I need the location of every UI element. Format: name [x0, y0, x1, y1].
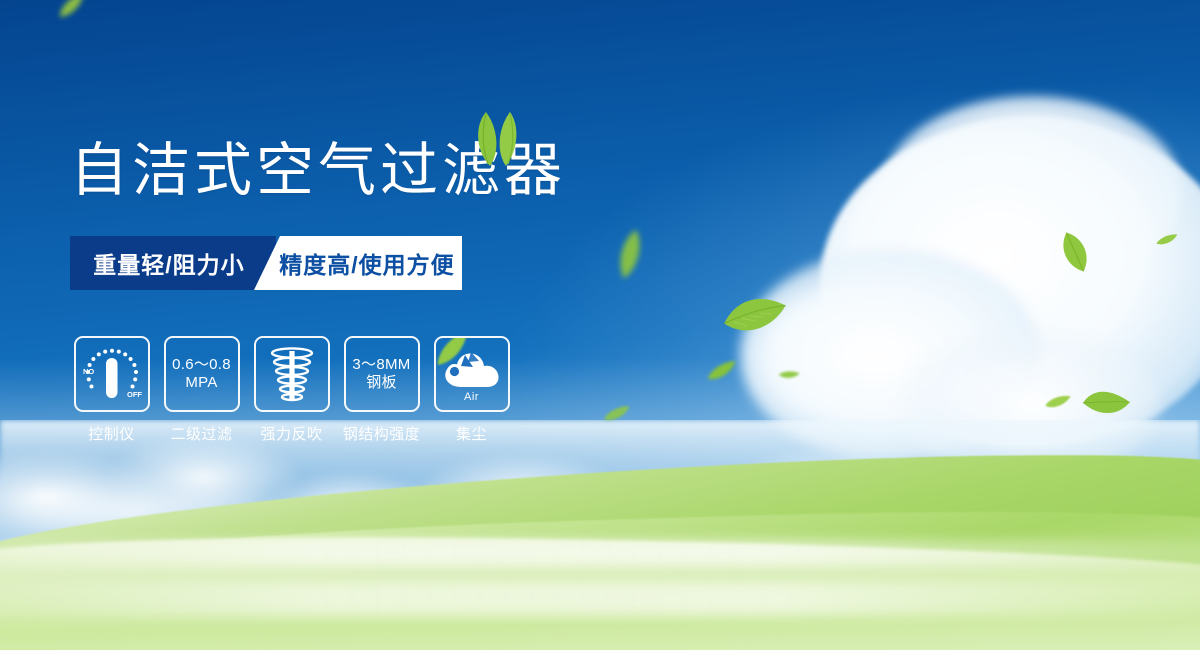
svg-text:NO: NO — [83, 367, 94, 376]
steel-thickness: 3～8MM — [352, 356, 410, 373]
feature-item-controller[interactable]: NO OFF 控制仪 — [70, 336, 153, 444]
grass-streak-lower — [0, 582, 1200, 616]
feature-label-secondary-filter: 二级过滤 — [170, 423, 232, 444]
feature-box-steel-strength: 3～8MM 钢板 — [344, 336, 420, 412]
subtitle-right-panel: 精度高/使用方便 — [254, 236, 462, 290]
sprout-leaves-icon — [466, 108, 528, 168]
feature-label-dust-collection: 集尘 — [456, 423, 487, 444]
coil-filter-icon — [263, 344, 321, 404]
grass-field — [0, 420, 1200, 650]
hero-banner: 自洁式空气过滤器 重量轻/阻力小 精度高/使用方便 — [0, 0, 1200, 650]
cloud-air-icon — [441, 349, 503, 391]
pressure-text-icon: 0.6～0.8 MPA — [172, 356, 231, 391]
subtitle-right-label: 精度高/使用方便 — [261, 246, 454, 280]
feature-label-steel-strength: 钢结构强度 — [343, 423, 421, 444]
pressure-value: 0.6～0.8 — [172, 356, 231, 373]
pressure-unit: MPA — [172, 374, 231, 392]
feature-box-controller: NO OFF — [74, 336, 150, 412]
feature-item-backblow[interactable]: 强力反吹 — [250, 336, 333, 444]
feature-box-dust-collection: Air — [434, 336, 510, 412]
feature-item-secondary-filter[interactable]: 0.6～0.8 MPA 二级过滤 — [160, 336, 243, 444]
subtitle-left-label: 重量轻/阻力小 — [93, 246, 252, 280]
leaf-icon-cloud-d — [1043, 391, 1073, 414]
feature-label-backblow: 强力反吹 — [260, 423, 322, 444]
air-caption: Air — [436, 391, 508, 403]
svg-text:OFF: OFF — [127, 390, 142, 399]
feature-box-secondary-filter: 0.6～0.8 MPA — [164, 336, 240, 412]
steel-plate-text-icon: 3～8MM 钢板 — [352, 356, 410, 391]
subtitle-left-panel: 重量轻/阻力小 — [70, 236, 276, 290]
feature-item-steel-strength[interactable]: 3～8MM 钢板 钢结构强度 — [340, 336, 423, 444]
feature-label-controller: 控制仪 — [88, 423, 135, 444]
steel-material: 钢板 — [352, 374, 410, 392]
feature-box-backblow — [254, 336, 330, 412]
feature-item-dust-collection[interactable]: Air 集尘 — [430, 336, 513, 444]
feature-list: NO OFF 控制仪 0.6～0.8 MPA 二级过滤 — [70, 336, 513, 444]
gauge-icon: NO OFF — [77, 341, 147, 407]
leaf-icon-mid-d — [777, 367, 801, 384]
grass-streak-upper — [0, 540, 1200, 566]
